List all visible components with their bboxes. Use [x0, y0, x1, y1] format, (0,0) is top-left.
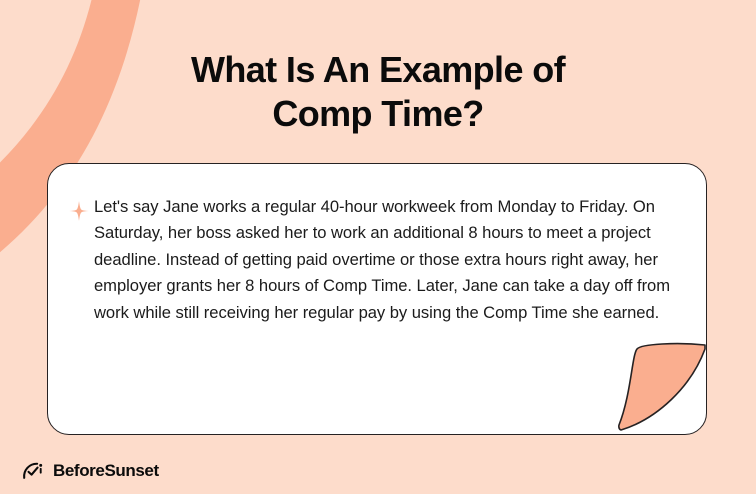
- sparkle-icon: [68, 200, 90, 222]
- content-card: Let's say Jane works a regular 40-hour w…: [47, 163, 707, 435]
- brand-logo: BeforeSunset: [22, 461, 159, 480]
- page-title: What Is An Example of Comp Time?: [0, 48, 756, 136]
- card-paragraph: Let's say Jane works a regular 40-hour w…: [94, 194, 680, 326]
- page-title-line-2: Comp Time?: [0, 92, 756, 136]
- card-body: Let's say Jane works a regular 40-hour w…: [64, 194, 688, 326]
- poster-canvas: What Is An Example of Comp Time? Let's s…: [0, 0, 756, 494]
- card-corner-fold: [617, 343, 707, 435]
- brand-logo-text: BeforeSunset: [53, 462, 159, 479]
- beforesunset-arc-check-icon: [22, 461, 48, 480]
- page-title-line-1: What Is An Example of: [0, 48, 756, 92]
